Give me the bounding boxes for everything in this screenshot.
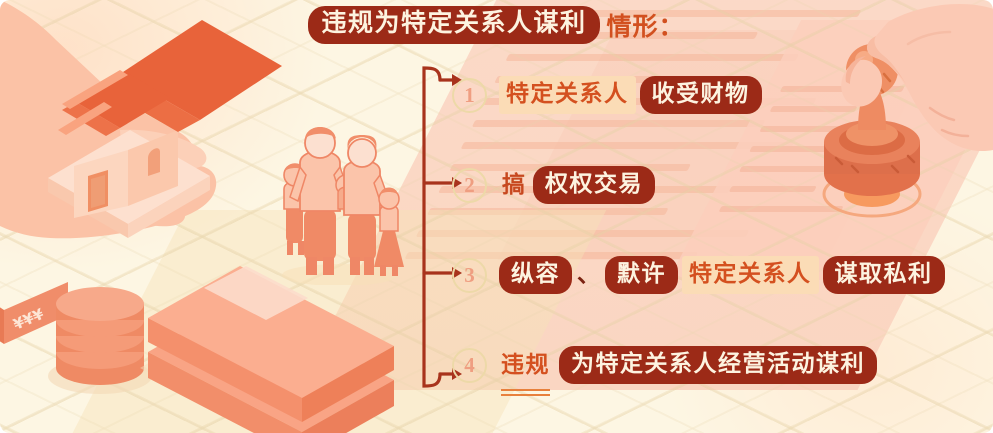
text-segment-badge: 权权交易 bbox=[533, 166, 655, 204]
text-segment-badge: 默许 bbox=[605, 256, 678, 294]
text-segment-badge: 谋取私利 bbox=[823, 256, 945, 294]
title-suffix: 情形： bbox=[607, 7, 685, 43]
list-item-text: 搞权权交易 bbox=[499, 166, 655, 204]
text-segment-badge: 纵容 bbox=[499, 256, 572, 294]
list-item-number: 4 bbox=[452, 348, 487, 383]
text-segment-underlined: 违规 bbox=[499, 351, 555, 379]
list-item-number: 2 bbox=[452, 168, 487, 203]
infographic-canvas: ¥¥¥ bbox=[0, 0, 993, 433]
text-segment-badge: 为特定关系人经营活动谋利 bbox=[559, 346, 877, 384]
list-item-text: 违规为特定关系人经营活动谋利 bbox=[499, 346, 877, 384]
title-row: 违规为特定关系人谋利 情形： bbox=[0, 6, 993, 44]
money-stacks-icon: ¥¥¥ bbox=[0, 248, 410, 433]
list-item: 4违规为特定关系人经营活动谋利 bbox=[414, 342, 974, 388]
list-item-text: 特定关系人收受财物 bbox=[499, 76, 762, 114]
title-badge: 违规为特定关系人谋利 bbox=[308, 6, 599, 44]
text-segment-plain: 搞 bbox=[499, 171, 529, 199]
text-segment-sep: 、 bbox=[576, 261, 601, 289]
list-item: 1特定关系人收受财物 bbox=[414, 72, 974, 118]
text-segment-badge: 收受财物 bbox=[640, 76, 762, 114]
text-segment-highlight: 特定关系人 bbox=[499, 76, 636, 114]
list-item-number: 1 bbox=[452, 78, 487, 113]
text-segment-highlight: 特定关系人 bbox=[682, 256, 819, 294]
list-item-text: 纵容、默许特定关系人谋取私利 bbox=[499, 256, 945, 294]
list-item: 2搞权权交易 bbox=[414, 162, 974, 208]
list-item: 3纵容、默许特定关系人谋取私利 bbox=[414, 252, 974, 298]
numbered-list: 1特定关系人收受财物2搞权权交易3纵容、默许特定关系人谋取私利4违规为特定关系人… bbox=[414, 72, 974, 388]
list-item-number: 3 bbox=[452, 258, 487, 293]
